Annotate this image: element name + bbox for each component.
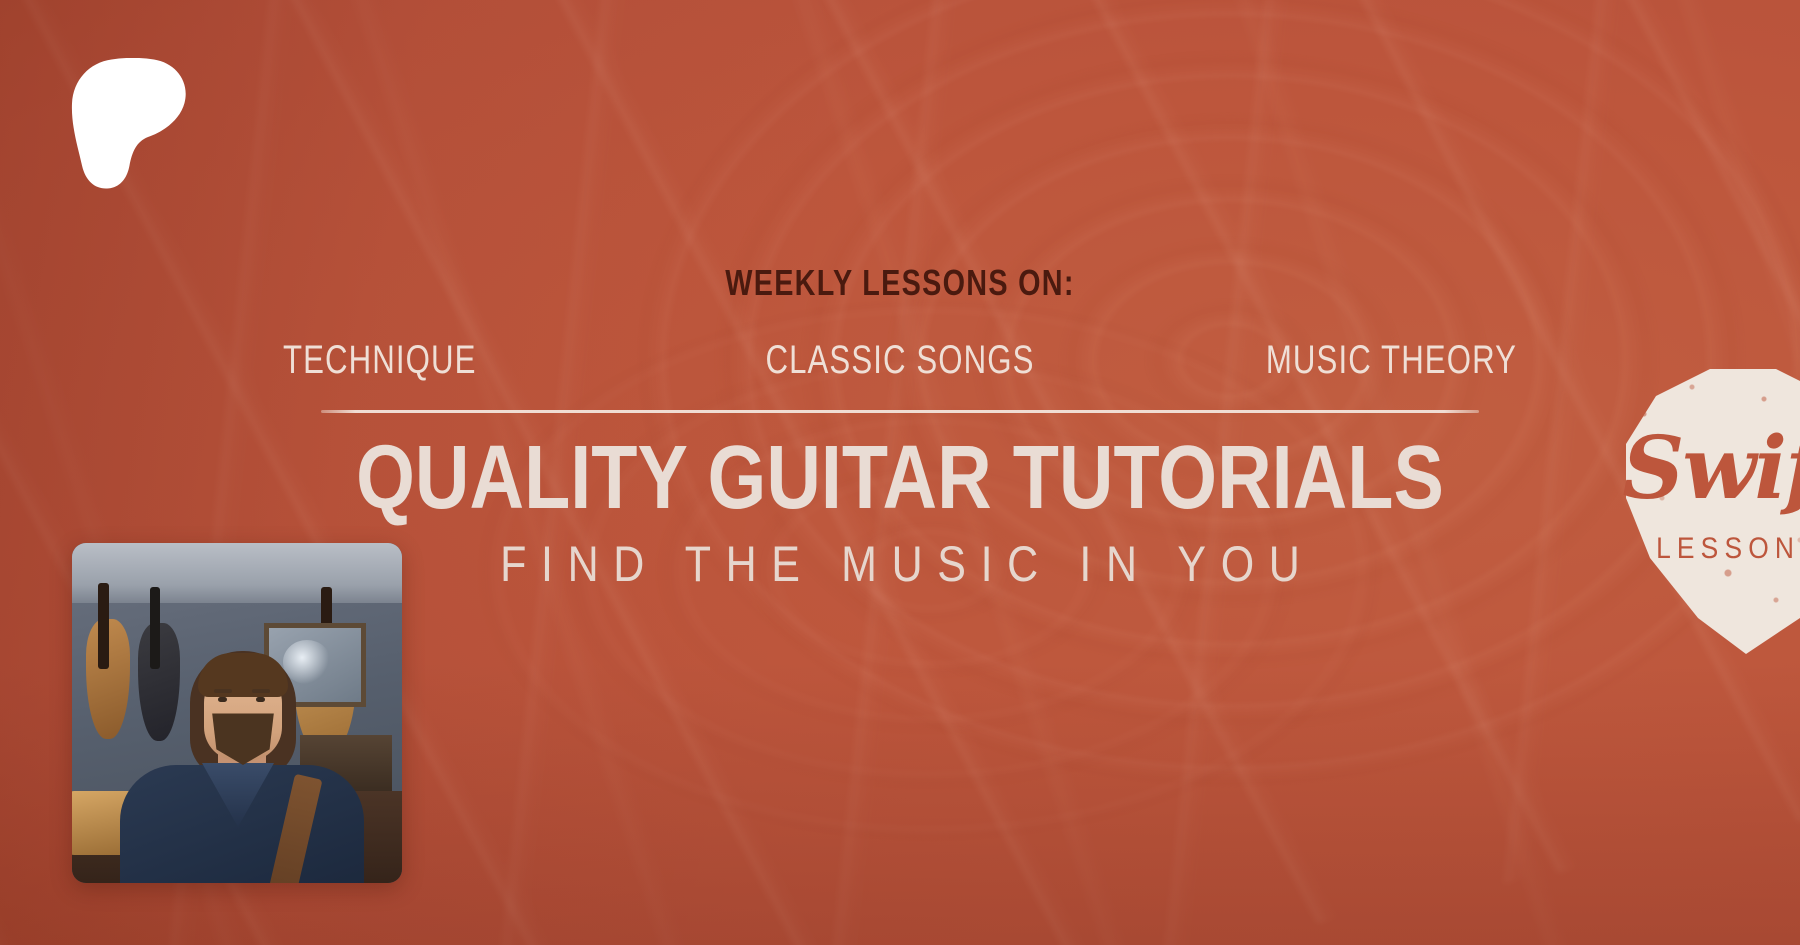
eye-right: [256, 697, 265, 702]
eye-left: [218, 697, 227, 702]
hair-top: [198, 653, 288, 697]
wall-guitar-neck-1: [98, 583, 109, 669]
logo-script-text: Swift: [1590, 418, 1800, 519]
creator-banner: WEEKLY LESSONS ON: TECHNIQUE CLASSIC SON…: [0, 0, 1800, 945]
swift-lessons-logo: Swift LESSONS: [1590, 360, 1800, 660]
eyebrow-left: [214, 689, 232, 693]
creator-video-thumbnail[interactable]: [72, 543, 402, 883]
creator-figure: [120, 647, 364, 883]
thumbnail-scene: [72, 543, 402, 883]
room-ceiling: [72, 543, 402, 603]
eyebrow-right: [252, 689, 270, 693]
patreon-logo-icon[interactable]: [70, 58, 188, 190]
logo-subtitle-text: LESSONS: [1608, 532, 1800, 566]
